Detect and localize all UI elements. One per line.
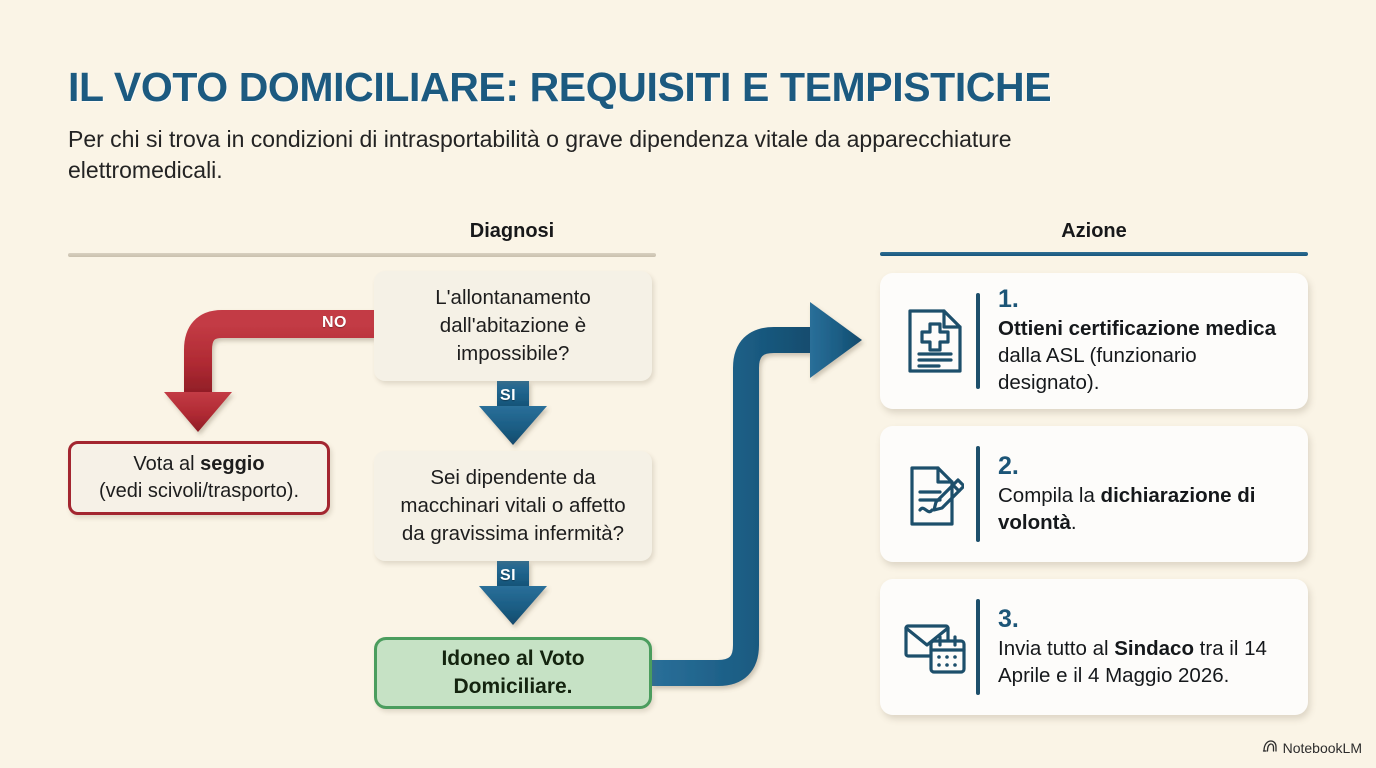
action-card-3-bold: Sindaco	[1114, 637, 1194, 660]
action-card-1-body: 1. Ottieni certificazione medica dalla A…	[998, 286, 1292, 396]
page-title: IL VOTO DOMICILIARE: REQUISITI E TEMPIST…	[68, 64, 1051, 111]
column-rule-diagnosi	[68, 253, 656, 257]
document-pencil-icon	[894, 460, 976, 528]
decision-box-question-2-text: Sei dipendente da macchinari vitali o af…	[388, 464, 638, 548]
arrow-label-no: NO	[322, 314, 347, 332]
action-card-1[interactable]: 1. Ottieni certificazione medica dalla A…	[880, 273, 1308, 409]
result-box-idoneo[interactable]: Idoneo al Voto Domiciliare.	[374, 637, 652, 709]
watermark: NotebookLM	[1262, 739, 1362, 756]
action-card-1-number: 1.	[998, 286, 1292, 313]
action-card-2-plain: Compila la	[998, 484, 1101, 507]
column-header-azione: Azione	[880, 220, 1308, 243]
card-accent-bar-2	[976, 446, 980, 542]
action-card-2-text: Compila la dichiarazione di volontà.	[998, 482, 1292, 536]
page-subtitle: Per chi si trova in condizioni di intras…	[68, 124, 1078, 186]
action-card-1-bold: Ottieni certificazione medica	[998, 317, 1276, 340]
arrow-label-si-2: SI	[500, 567, 516, 585]
result-seggio-bold: seggio	[200, 453, 264, 475]
action-card-3[interactable]: 3. Invia tutto al Sindaco tra il 14 Apri…	[880, 579, 1308, 715]
action-card-2[interactable]: 2. Compila la dichiarazione di volontà.	[880, 426, 1308, 562]
card-accent-bar-3	[976, 599, 980, 695]
action-card-2-rest: .	[1071, 511, 1077, 534]
result-box-seggio-text: Vota al seggio (vedi scivoli/trasporto).	[85, 451, 313, 505]
action-card-3-text: Invia tutto al Sindaco tra il 14 Aprile …	[998, 635, 1292, 689]
action-card-3-number: 3.	[998, 606, 1292, 633]
action-card-3-body: 3. Invia tutto al Sindaco tra il 14 Apri…	[998, 606, 1292, 689]
arrow-no	[164, 324, 374, 432]
decision-box-question-1-text: L'allontanamento dall'abitazione è impos…	[388, 284, 638, 368]
decision-box-question-1[interactable]: L'allontanamento dall'abitazione è impos…	[374, 271, 652, 381]
result-box-idoneo-text: Idoneo al Voto Domiciliare.	[391, 645, 635, 701]
action-card-1-rest: dalla ASL (funzionario designato).	[998, 344, 1197, 394]
action-card-3-plain: Invia tutto al	[998, 637, 1114, 660]
envelope-calendar-icon	[894, 617, 976, 677]
result-box-seggio[interactable]: Vota al seggio (vedi scivoli/trasporto).	[68, 441, 330, 515]
column-header-diagnosi: Diagnosi	[68, 220, 956, 243]
result-seggio-prefix: Vota al	[133, 453, 200, 475]
result-seggio-line2: (vedi scivoli/trasporto).	[99, 480, 299, 502]
infographic-canvas: IL VOTO DOMICILIARE: REQUISITI E TEMPIST…	[0, 0, 1376, 768]
action-card-2-body: 2. Compila la dichiarazione di volontà.	[998, 453, 1292, 536]
notebooklm-logo-icon	[1262, 739, 1278, 756]
medical-document-icon	[894, 307, 976, 375]
column-rule-azione	[880, 252, 1308, 256]
arrow-label-si-1: SI	[500, 387, 516, 405]
watermark-label: NotebookLM	[1283, 740, 1362, 756]
card-accent-bar-1	[976, 293, 980, 389]
decision-box-question-2[interactable]: Sei dipendente da macchinari vitali o af…	[374, 451, 652, 561]
action-card-1-text: Ottieni certificazione medica dalla ASL …	[998, 315, 1292, 396]
action-card-2-number: 2.	[998, 453, 1292, 480]
arrow-to-actions	[652, 302, 862, 673]
